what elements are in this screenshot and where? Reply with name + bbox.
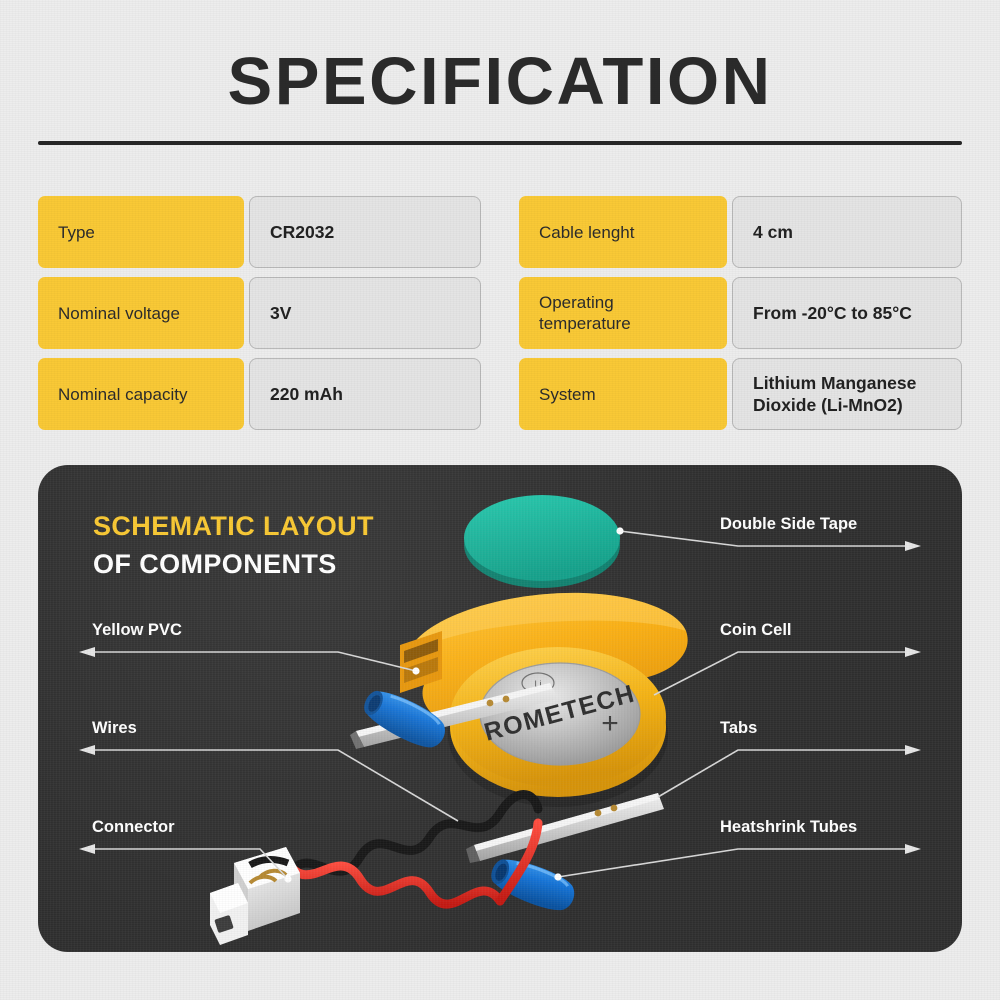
spec-row: System Lithium Manganese Dioxide (Li-MnO… xyxy=(519,358,962,430)
callout-label-tabs: Tabs xyxy=(720,719,757,738)
arrow-yellow-pvc xyxy=(79,647,95,657)
callout-label-yellow-pvc: Yellow PVC xyxy=(92,621,182,640)
leader-wires xyxy=(93,750,458,821)
spec-key-nominal-capacity: Nominal capacity xyxy=(38,358,244,430)
dot-yellow-pvc xyxy=(412,667,419,674)
spec-row: Cable lenght 4 cm xyxy=(519,196,962,268)
schematic-heading-line1: SCHEMATIC LAYOUT xyxy=(93,510,374,542)
callout-label-double-side-tape: Double Side Tape xyxy=(720,515,857,534)
schematic-panel: ROMETECH + Li xyxy=(38,465,962,952)
callout-label-connector: Connector xyxy=(92,818,175,837)
dot-heatshrink-tubes xyxy=(554,873,561,880)
callout-label-wires: Wires xyxy=(92,719,137,738)
spec-value-system: Lithium Manganese Dioxide (Li-MnO2) xyxy=(732,358,962,430)
spec-row: Operating temperature From -20°C to 85°C xyxy=(519,277,962,349)
spec-column-left: Type CR2032 Nominal voltage 3V Nominal c… xyxy=(38,196,481,430)
spec-value-nominal-voltage: 3V xyxy=(249,277,481,349)
dot-connector xyxy=(284,875,291,882)
page-title: SPECIFICATION xyxy=(0,46,1000,118)
spec-key-operating-temperature: Operating temperature xyxy=(519,277,727,349)
spec-value-type: CR2032 xyxy=(249,196,481,268)
arrow-coin-cell xyxy=(905,647,921,657)
callout-label-coin-cell: Coin Cell xyxy=(720,621,792,640)
leader-tabs xyxy=(658,750,907,797)
leader-connector xyxy=(93,849,288,879)
callout-label-heatshrink-tubes: Heatshrink Tubes xyxy=(720,818,857,837)
specification-table: Type CR2032 Nominal voltage 3V Nominal c… xyxy=(38,196,962,430)
spec-value-nominal-capacity: 220 mAh xyxy=(249,358,481,430)
arrow-tabs xyxy=(905,745,921,755)
spec-key-system: System xyxy=(519,358,727,430)
arrow-heatshrink-tubes xyxy=(905,844,921,854)
header-divider xyxy=(38,141,962,145)
spec-row: Nominal capacity 220 mAh xyxy=(38,358,481,430)
schematic-heading: SCHEMATIC LAYOUT OF COMPONENTS xyxy=(93,510,374,580)
spec-column-right: Cable lenght 4 cm Operating temperature … xyxy=(519,196,962,430)
dot-double-side-tape xyxy=(616,527,623,534)
arrow-connector xyxy=(79,844,95,854)
infographic-page: SPECIFICATION Type CR2032 Nominal voltag… xyxy=(0,0,1000,1000)
spec-row: Type CR2032 xyxy=(38,196,481,268)
spec-key-nominal-voltage: Nominal voltage xyxy=(38,277,244,349)
spec-value-operating-temperature: From -20°C to 85°C xyxy=(732,277,962,349)
spec-key-cable-length: Cable lenght xyxy=(519,196,727,268)
leader-heatshrink-tubes xyxy=(558,849,907,877)
arrow-double-side-tape xyxy=(905,541,921,551)
spec-key-type: Type xyxy=(38,196,244,268)
spec-row: Nominal voltage 3V xyxy=(38,277,481,349)
leader-coin-cell xyxy=(654,652,907,695)
leader-yellow-pvc xyxy=(93,652,416,671)
arrow-wires xyxy=(79,745,95,755)
schematic-heading-line2: OF COMPONENTS xyxy=(93,548,374,580)
spec-value-cable-length: 4 cm xyxy=(732,196,962,268)
